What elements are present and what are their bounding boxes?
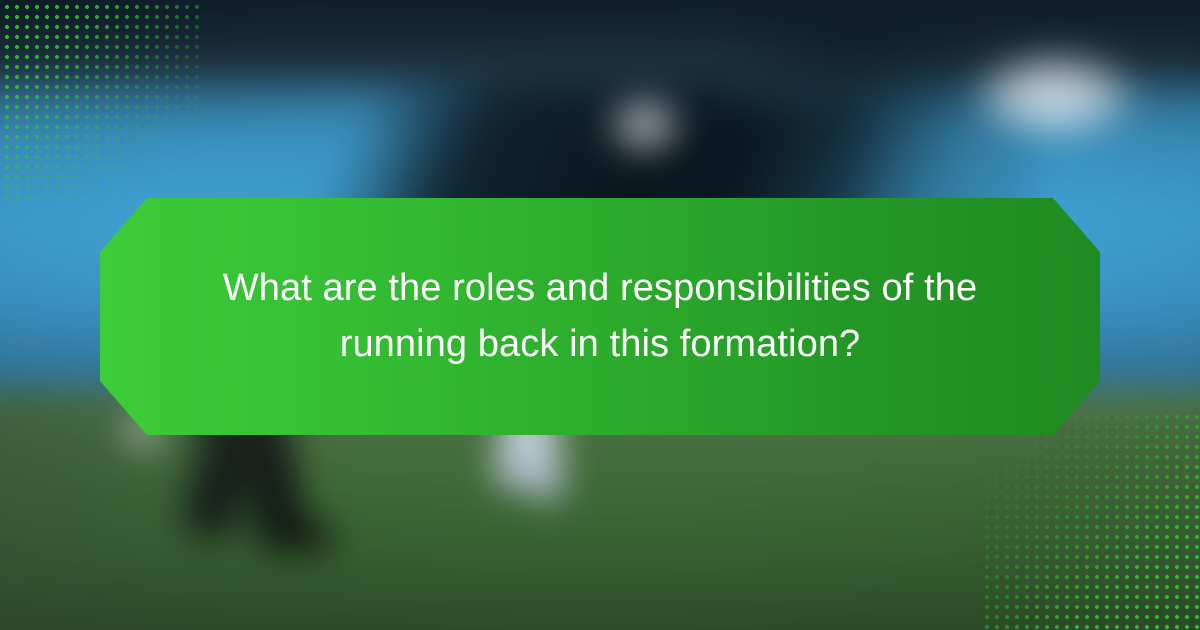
question-banner: What are the roles and responsibilities … — [100, 198, 1100, 435]
stadium-white-blob — [600, 90, 690, 160]
stadium-signage-blob — [970, 50, 1140, 140]
question-text: What are the roles and responsibilities … — [200, 261, 1000, 373]
question-card-canvas: What are the roles and responsibilities … — [0, 0, 1200, 630]
